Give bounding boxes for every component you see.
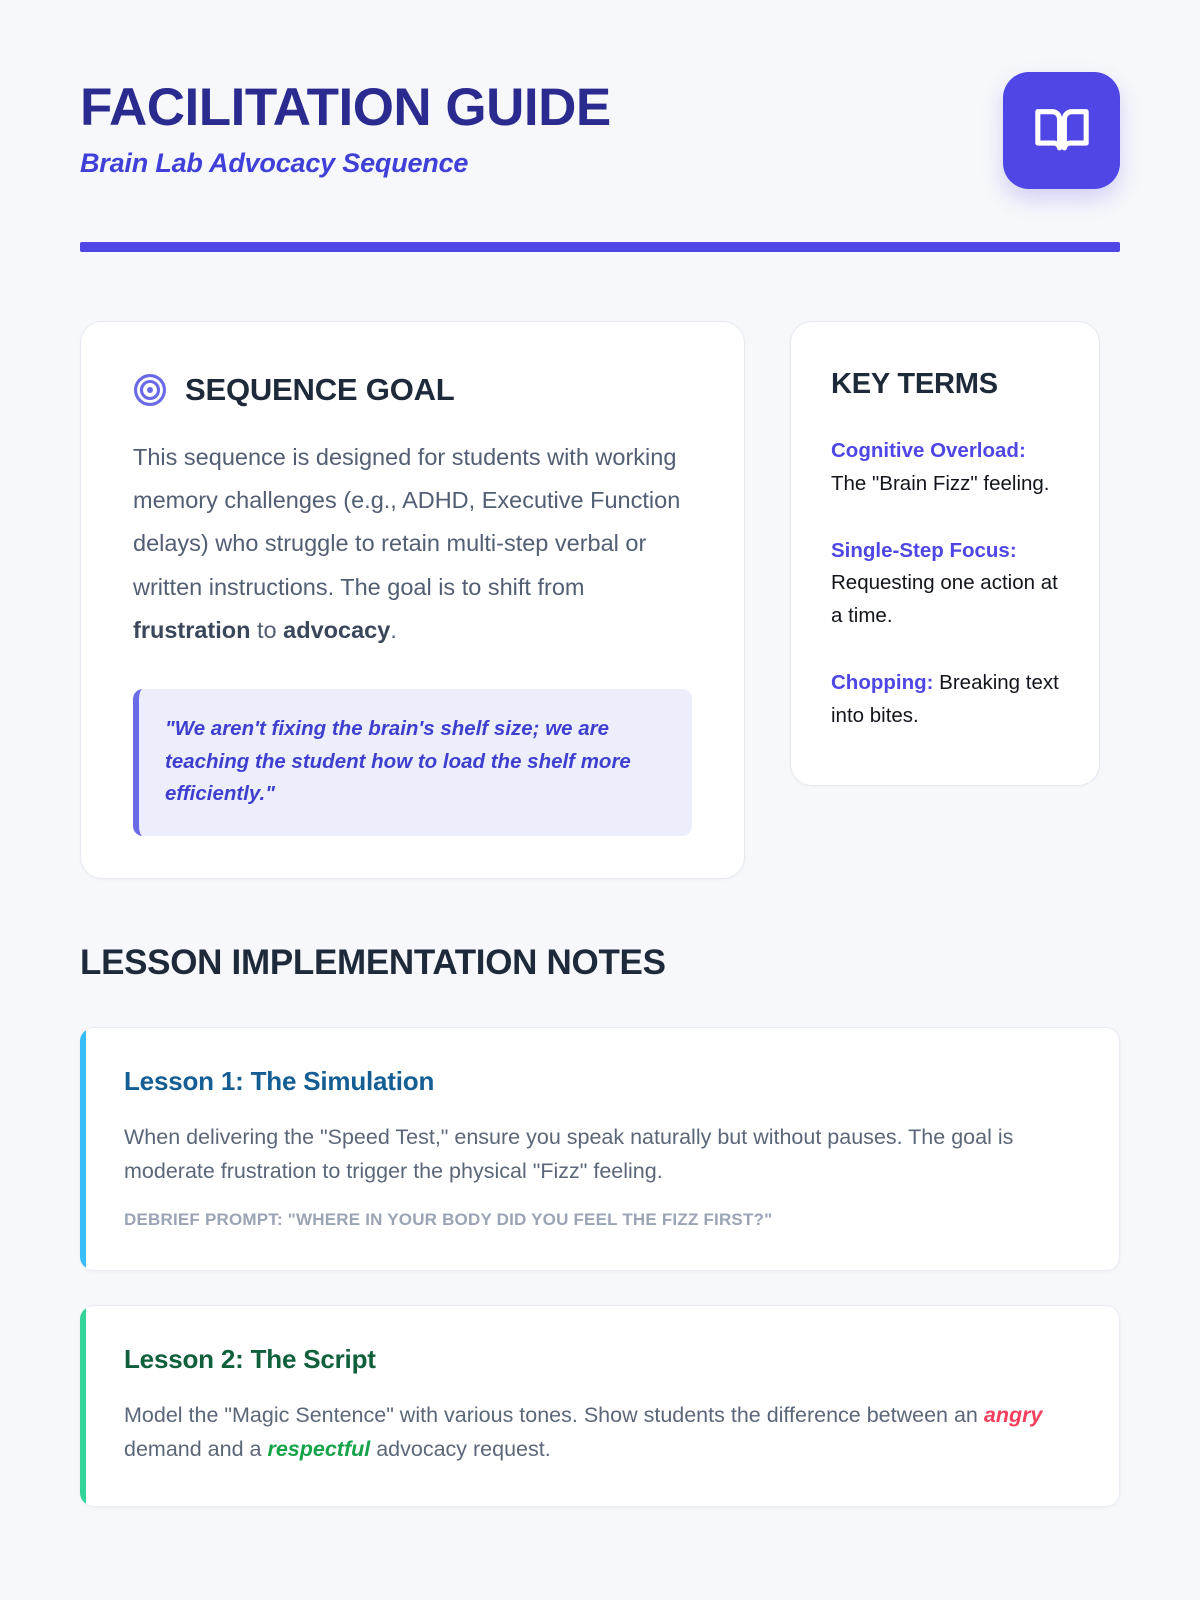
key-term-item: Single-Step Focus: Requesting one action… xyxy=(831,535,1059,633)
target-icon xyxy=(133,373,167,407)
lesson-body-end: advocacy request. xyxy=(370,1437,550,1461)
key-term-item: Cognitive Overload: The "Brain Fizz" fee… xyxy=(831,435,1059,501)
emphasis-respectful: respectful xyxy=(267,1437,370,1461)
sequence-goal-header: SEQUENCE GOAL xyxy=(133,372,692,408)
sequence-goal-title: SEQUENCE GOAL xyxy=(185,372,455,408)
key-term-definition: Requesting one action at a time. xyxy=(831,571,1058,627)
page-subtitle: Brain Lab Advocacy Sequence xyxy=(80,148,611,179)
page-header: FACILITATION GUIDE Brain Lab Advocacy Se… xyxy=(80,72,1120,189)
lesson-body: Model the "Magic Sentence" with various … xyxy=(124,1399,1079,1466)
lesson-card-1: Lesson 1: The Simulation When delivering… xyxy=(80,1027,1120,1271)
lesson-notes-list: Lesson 1: The Simulation When delivering… xyxy=(80,1027,1120,1507)
lesson-card-2: Lesson 2: The Script Model the "Magic Se… xyxy=(80,1305,1120,1507)
goal-text-lead: This sequence is designed for students w… xyxy=(133,444,680,600)
key-terms-title: KEY TERMS xyxy=(831,368,1059,401)
goal-text-end: . xyxy=(390,617,397,643)
open-book-icon xyxy=(1033,102,1091,160)
open-book-icon-badge xyxy=(1003,72,1120,189)
goal-text-mid: to xyxy=(251,617,284,643)
key-term-name: Cognitive Overload: xyxy=(831,439,1026,462)
goal-pullquote-text: "We aren't fixing the brain's shelf size… xyxy=(165,713,664,810)
page-title: FACILITATION GUIDE xyxy=(80,80,611,136)
lesson-title: Lesson 1: The Simulation xyxy=(124,1066,1079,1097)
sequence-goal-card: SEQUENCE GOAL This sequence is designed … xyxy=(80,321,745,879)
header-text-block: FACILITATION GUIDE Brain Lab Advocacy Se… xyxy=(80,72,611,179)
lesson-title: Lesson 2: The Script xyxy=(124,1344,1079,1375)
header-divider-rule xyxy=(80,242,1120,252)
goal-pullquote: "We aren't fixing the brain's shelf size… xyxy=(133,689,692,836)
goal-bold-advocacy: advocacy xyxy=(283,617,390,643)
facilitation-guide-page: FACILITATION GUIDE Brain Lab Advocacy Se… xyxy=(0,0,1200,1600)
key-terms-card: KEY TERMS Cognitive Overload: The "Brain… xyxy=(790,321,1100,786)
overview-row: SEQUENCE GOAL This sequence is designed … xyxy=(80,321,1120,879)
lesson-body: When delivering the "Speed Test," ensure… xyxy=(124,1121,1079,1188)
key-term-item: Chopping: Breaking text into bites. xyxy=(831,667,1059,733)
key-term-name: Chopping: xyxy=(831,671,933,694)
emphasis-angry: angry xyxy=(984,1403,1043,1427)
lesson-body-mid: demand and a xyxy=(124,1437,267,1461)
key-term-name: Single-Step Focus: xyxy=(831,539,1017,562)
sequence-goal-paragraph: This sequence is designed for students w… xyxy=(133,436,692,652)
lesson-notes-heading: LESSON IMPLEMENTATION NOTES xyxy=(80,943,1120,983)
lesson-body-lead: Model the "Magic Sentence" with various … xyxy=(124,1403,984,1427)
goal-bold-frustration: frustration xyxy=(133,617,251,643)
lesson-debrief-prompt: DEBRIEF PROMPT: "WHERE IN YOUR BODY DID … xyxy=(124,1210,1079,1230)
key-term-definition: The "Brain Fizz" feeling. xyxy=(831,472,1050,495)
